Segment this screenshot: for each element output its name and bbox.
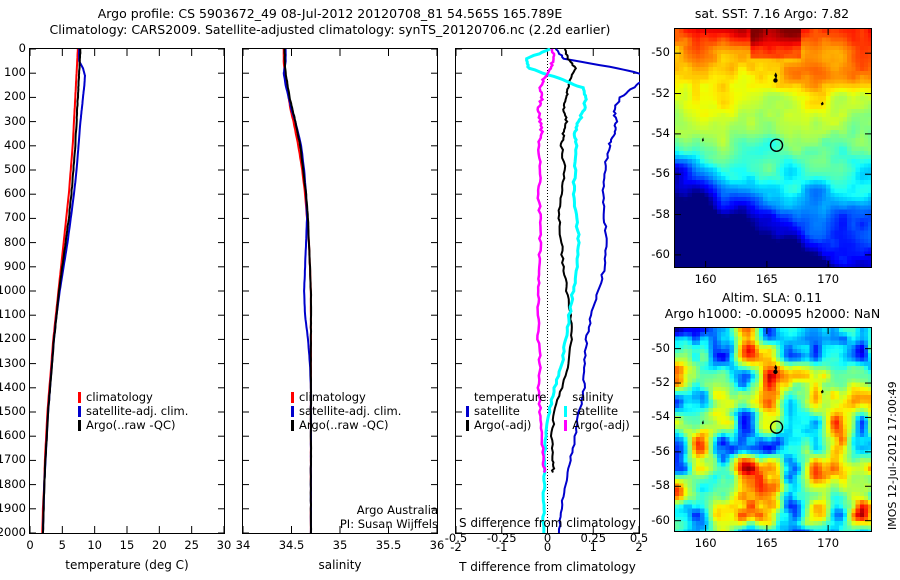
temperature-x-axis-label: temperature (deg C) — [29, 558, 225, 572]
legend-swatch-satellite-adj — [291, 406, 294, 417]
legend-swatch-argo-raw — [78, 420, 81, 431]
tick-label: 34 — [221, 538, 265, 552]
legend-swatch-satellite-adj — [78, 406, 81, 417]
legend-label: Argo(-adj) — [572, 418, 629, 432]
tick-label: 35.5 — [367, 538, 411, 552]
tick-label: 1000 — [0, 283, 26, 297]
salinity-plot-svg — [242, 48, 438, 534]
tick-label: 700 — [0, 210, 26, 224]
tick-label: -52 — [642, 375, 670, 389]
tick-label: 35 — [318, 538, 362, 552]
legend-swatch-temperature-argo-adj — [466, 420, 469, 431]
tick-label: 0 — [528, 540, 568, 554]
tick-label: 170 — [808, 536, 848, 550]
tick-label: -50 — [642, 341, 670, 355]
tick-label: 0 — [0, 41, 26, 55]
tick-label: 2 — [619, 540, 659, 554]
credit-line2: PI: Susan Wijffels — [258, 517, 438, 531]
sst-map-title: sat. SST: 7.16 Argo: 7.82 — [672, 6, 872, 21]
tick-label: -2 — [436, 540, 476, 554]
legend-swatch-argo-raw — [291, 420, 294, 431]
temperature-plot-svg — [29, 48, 225, 534]
difference-bottom-x-axis-label: T difference from climatology — [455, 560, 640, 574]
imos-timestamp-watermark: IMOS 12-Jul-2012 17:00:49 — [886, 381, 899, 530]
legend-label: climatology — [86, 390, 153, 404]
tick-label: 1500 — [0, 404, 26, 418]
legend-item: climatology — [291, 390, 401, 404]
legend-group-header: temperature — [466, 390, 546, 404]
legend-item: satellite-adj. clim. — [78, 404, 188, 418]
legend-group-header: salinity — [564, 390, 629, 404]
tick-label: -54 — [642, 409, 670, 423]
tick-label: 165 — [747, 272, 787, 286]
legend-swatch-climatology — [291, 392, 294, 403]
temperature-legend: climatology satellite-adj. clim. Argo(..… — [78, 390, 188, 432]
tick-label: -56 — [642, 166, 670, 180]
tick-label: 1700 — [0, 452, 26, 466]
legend-group-temperature: temperature satellite Argo(-adj) — [466, 390, 546, 432]
legend-item: satellite — [564, 404, 629, 418]
plot-title-line1: Argo profile: CS 5903672_49 08-Jul-2012 … — [0, 6, 660, 21]
sla-map-title-line1: Altim. SLA: 0.11 — [672, 290, 872, 305]
tick-label: -52 — [642, 86, 670, 100]
tick-label: 160 — [686, 536, 726, 550]
salinity-x-axis-label: salinity — [242, 558, 438, 572]
legend-swatch-salinity-satellite — [564, 406, 567, 417]
tick-label: 1600 — [0, 428, 26, 442]
tick-label: 160 — [686, 272, 726, 286]
tick-label: 170 — [808, 272, 848, 286]
tick-label: 200 — [0, 89, 26, 103]
tick-label: 2000 — [0, 525, 26, 539]
tick-label: -60 — [642, 513, 670, 527]
difference-plot-svg — [455, 48, 640, 534]
tick-label: 400 — [0, 138, 26, 152]
legend-item: Argo(..raw -QC) — [291, 418, 401, 432]
tick-label: 600 — [0, 186, 26, 200]
tick-label: -60 — [642, 247, 670, 261]
sla-map-svg — [674, 327, 872, 532]
legend-label: satellite — [572, 404, 618, 418]
credit-block: Argo Australia PI: Susan Wijffels — [258, 503, 438, 531]
legend-group-salinity: salinity satellite Argo(-adj) — [564, 390, 629, 432]
tick-label: 1100 — [0, 307, 26, 321]
tick-label: 800 — [0, 235, 26, 249]
legend-swatch-salinity-argo-adj — [564, 420, 567, 431]
tick-label: -50 — [642, 45, 670, 59]
legend-label: satellite — [474, 404, 520, 418]
tick-label: 900 — [0, 259, 26, 273]
tick-label: 34.5 — [270, 538, 314, 552]
tick-label: 1900 — [0, 501, 26, 515]
tick-label: -56 — [642, 444, 670, 458]
tick-label: 1400 — [0, 380, 26, 394]
difference-legend: temperature satellite Argo(-adj) salinit… — [466, 390, 648, 432]
tick-label: 165 — [747, 536, 787, 550]
tick-label: -58 — [642, 478, 670, 492]
tick-label: 500 — [0, 162, 26, 176]
legend-item: climatology — [78, 390, 188, 404]
legend-label: satellite-adj. clim. — [86, 404, 188, 418]
legend-item: satellite-adj. clim. — [291, 404, 401, 418]
sst-map-svg — [674, 28, 872, 268]
tick-label: -1 — [482, 540, 522, 554]
legend-label: Argo(..raw -QC) — [86, 418, 176, 432]
legend-label: satellite-adj. clim. — [299, 404, 401, 418]
legend-label: Argo(-adj) — [474, 418, 531, 432]
tick-label: 1 — [573, 540, 613, 554]
sla-map-title-line2: Argo h1000: -0.00095 h2000: NaN — [650, 306, 895, 321]
legend-label: climatology — [299, 390, 366, 404]
tick-label: 1200 — [0, 331, 26, 345]
plot-title-line2: Climatology: CARS2009. Satellite-adjuste… — [0, 22, 660, 37]
credit-line1: Argo Australia — [258, 503, 438, 517]
legend-item: satellite — [466, 404, 546, 418]
tick-label: -54 — [642, 126, 670, 140]
tick-label: 1800 — [0, 477, 26, 491]
tick-label: 300 — [0, 114, 26, 128]
legend-item: Argo(..raw -QC) — [78, 418, 188, 432]
legend-swatch-climatology — [78, 392, 81, 403]
legend-item: Argo(-adj) — [564, 418, 629, 432]
tick-label: 100 — [0, 65, 26, 79]
salinity-legend: climatology satellite-adj. clim. Argo(..… — [291, 390, 401, 432]
difference-top-x-axis-label: S difference from climatology — [455, 516, 640, 530]
legend-label: Argo(..raw -QC) — [299, 418, 389, 432]
legend-item: Argo(-adj) — [466, 418, 546, 432]
tick-label: 1300 — [0, 356, 26, 370]
legend-swatch-temperature-satellite — [466, 406, 469, 417]
tick-label: -58 — [642, 207, 670, 221]
